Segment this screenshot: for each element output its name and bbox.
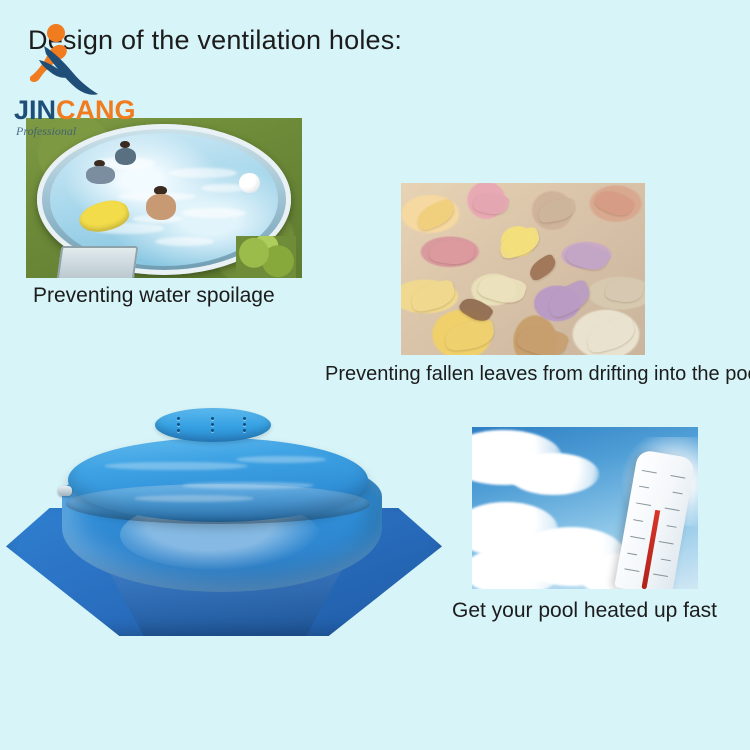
brand-wordmark-cang: CANG — [56, 95, 136, 125]
product-pool-with-cover — [0, 400, 450, 640]
ventilation-holes-callout — [155, 408, 271, 442]
photo-pool-with-swimmers — [26, 118, 302, 278]
photo-fallen-leaves — [401, 183, 645, 355]
white-ball — [239, 173, 260, 193]
brand-wordmark-jin: JIN — [14, 95, 56, 125]
photo-thermometer-sky — [472, 427, 698, 589]
caption-preventing-water-spoilage: Preventing water spoilage — [33, 282, 275, 310]
slide-canvas: Design of the ventilation holes: JINCANG… — [0, 0, 750, 750]
swimmer-center — [137, 186, 187, 228]
pool-cover-rim — [66, 484, 370, 524]
brand-tagline: Professional — [16, 124, 76, 139]
running-figure-logo-icon — [6, 20, 156, 100]
pool-valve — [58, 486, 72, 496]
caption-get-pool-heated: Get your pool heated up fast — [452, 597, 717, 625]
swimmer-back — [111, 141, 143, 170]
caption-preventing-fallen-leaves: Preventing fallen leaves from drifting i… — [325, 360, 750, 388]
brand-logo: JINCANG Professional — [6, 20, 156, 135]
pool-ladder — [57, 246, 139, 278]
brand-wordmark: JINCANG — [14, 96, 136, 124]
garden-bush — [236, 236, 297, 278]
cloud — [508, 453, 598, 495]
